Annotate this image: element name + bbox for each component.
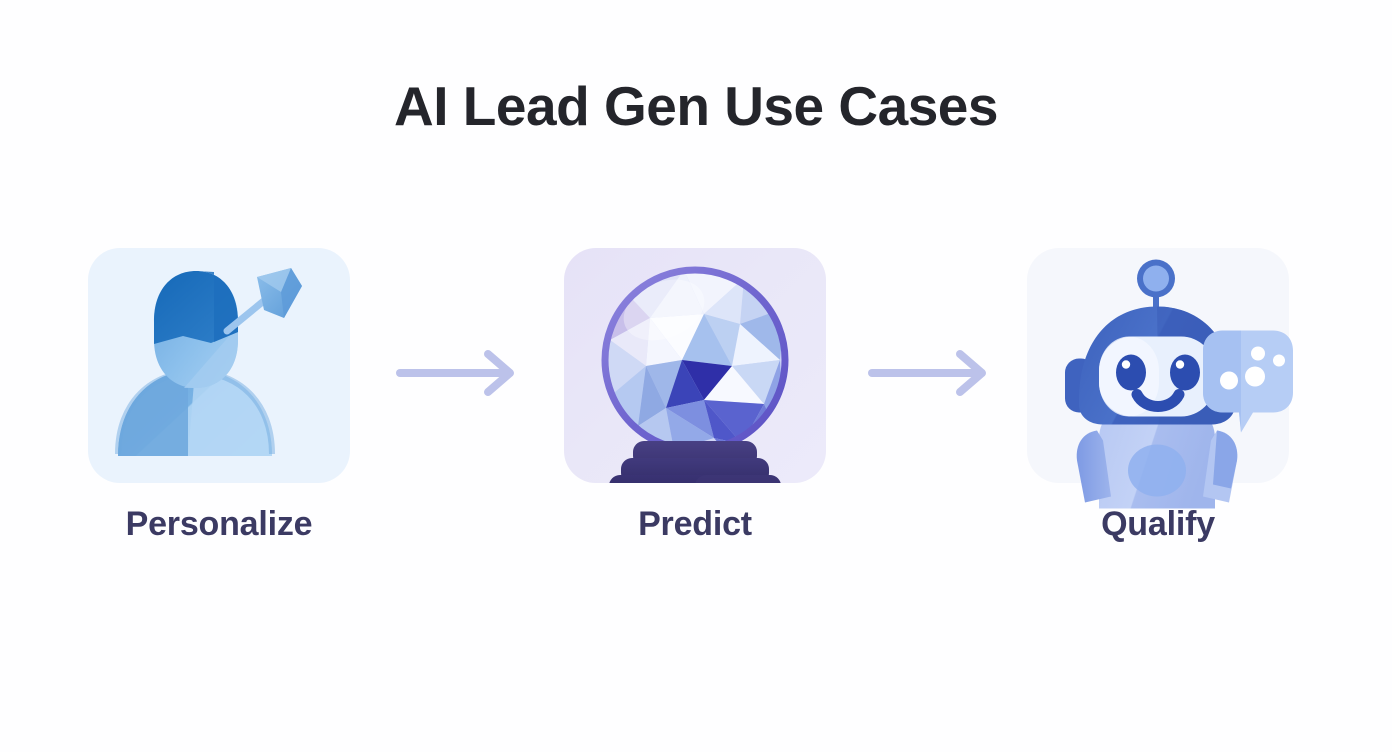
icon-tile-personalize[interactable] [88, 248, 350, 483]
page-title: AI Lead Gen Use Cases [0, 76, 1392, 137]
step-label-qualify: Qualify [1008, 505, 1308, 544]
infographic-canvas: AI Lead Gen Use Cases [0, 0, 1392, 752]
chatbot-robot-icon [1027, 208, 1289, 508]
icon-tile-predict[interactable] [564, 248, 826, 483]
step-predict[interactable]: Predict [545, 248, 845, 544]
step-qualify[interactable]: Qualify [1008, 248, 1308, 544]
crystal-ball-icon [564, 248, 826, 483]
arrow-predict-to-qualify-icon [866, 348, 994, 398]
person-with-dart-icon [88, 248, 350, 483]
steps-row: Personalize [0, 248, 1392, 568]
tile-background-predict [564, 248, 826, 483]
tile-background-personalize [88, 248, 350, 483]
arrow-personalize-to-predict-icon [394, 348, 522, 398]
step-label-personalize: Personalize [69, 505, 369, 544]
step-label-predict: Predict [545, 505, 845, 544]
icon-tile-qualify[interactable] [1027, 248, 1289, 483]
step-personalize[interactable]: Personalize [69, 248, 369, 544]
